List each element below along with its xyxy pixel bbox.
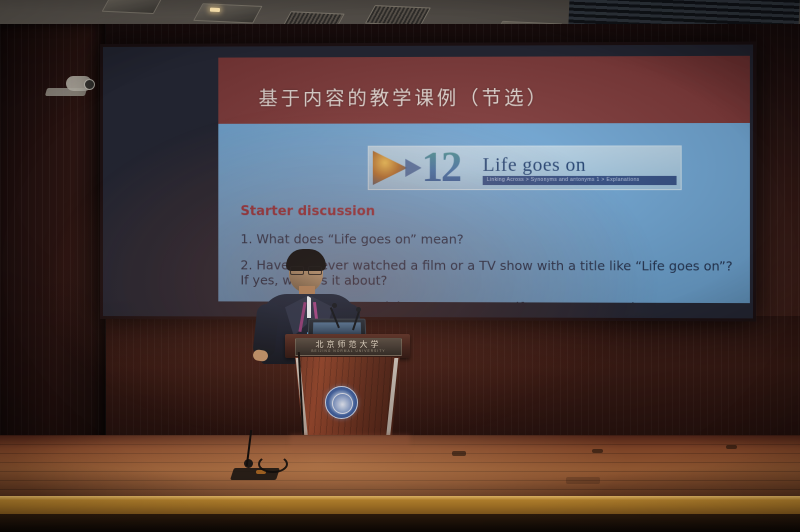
microphone-head: [356, 307, 361, 312]
seal-inner-ring: [332, 393, 353, 414]
floor-marker: [726, 445, 737, 449]
projection-screen: 基于内容的教学课例（节选） 12 Life goes on Linking Ac…: [100, 42, 756, 322]
stage-floor: [0, 435, 800, 503]
ceiling-vent-panel: [365, 5, 431, 26]
podium-name-cn: 北京师范大学: [316, 341, 382, 349]
orchestra-pit-shadow: [0, 514, 800, 532]
ceiling-lamp: [210, 8, 220, 12]
ceiling-light-panel: [102, 0, 163, 14]
floor-cable-loop: [258, 455, 288, 473]
camera-lens: [84, 79, 95, 90]
ceiling-light-panel: [193, 3, 263, 23]
screen-frame: [100, 42, 756, 322]
university-seal-icon: [325, 386, 358, 419]
auditorium-scene: 基于内容的教学课例（节选） 12 Life goes on Linking Ac…: [0, 0, 800, 532]
microphone-head: [332, 303, 337, 308]
podium-name-en: BEIJING NORMAL UNIVERSITY: [311, 349, 385, 354]
wall-camera-icon: [46, 76, 92, 98]
glasses-icon: [290, 266, 322, 273]
stage-edge-highlight: [0, 496, 800, 500]
floor-marker: [452, 451, 466, 456]
floor-marker: [592, 449, 603, 453]
podium-nameplate: 北京师范大学 BEIJING NORMAL UNIVERSITY: [295, 338, 402, 356]
floor-panel-seam: [566, 477, 600, 484]
stage-lighting: [0, 435, 800, 503]
